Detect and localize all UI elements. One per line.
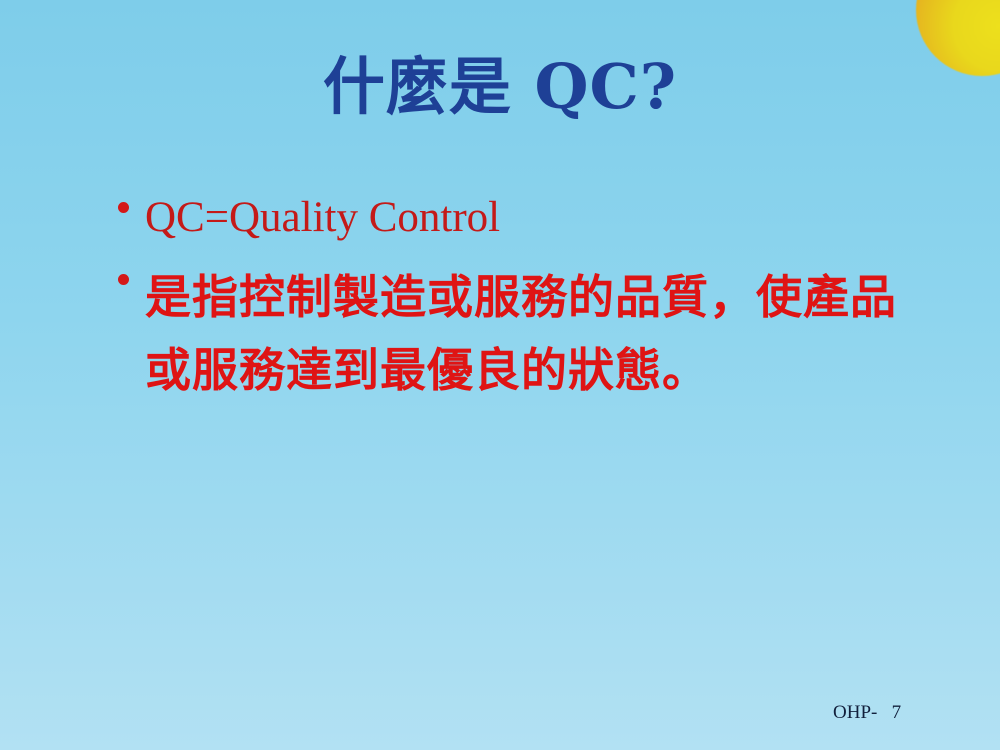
list-item: QC=Quality Control xyxy=(118,196,948,239)
slide-title-block: 什麼是 QC? xyxy=(0,54,1000,119)
bullet-text-description: 是指控制製造或服務的品質，使產品或服務達到最優良的狀態。 xyxy=(145,261,915,406)
slide-footer-page-number: OHP- 7 xyxy=(833,702,901,724)
bullet-dot-icon xyxy=(118,202,129,213)
bullet-text-definition: QC=Quality Control xyxy=(145,196,500,239)
list-item: 是指控制製造或服務的品質，使產品或服務達到最優良的狀態。 xyxy=(118,261,948,406)
presentation-slide: 什麼是 QC? QC=Quality Control 是指控制製造或服務的品質，… xyxy=(0,0,1000,750)
bullet-dot-icon xyxy=(118,274,129,285)
bullet-list: QC=Quality Control 是指控制製造或服務的品質，使產品或服務達到… xyxy=(118,196,948,406)
page-title: 什麼是 QC? xyxy=(323,54,677,119)
